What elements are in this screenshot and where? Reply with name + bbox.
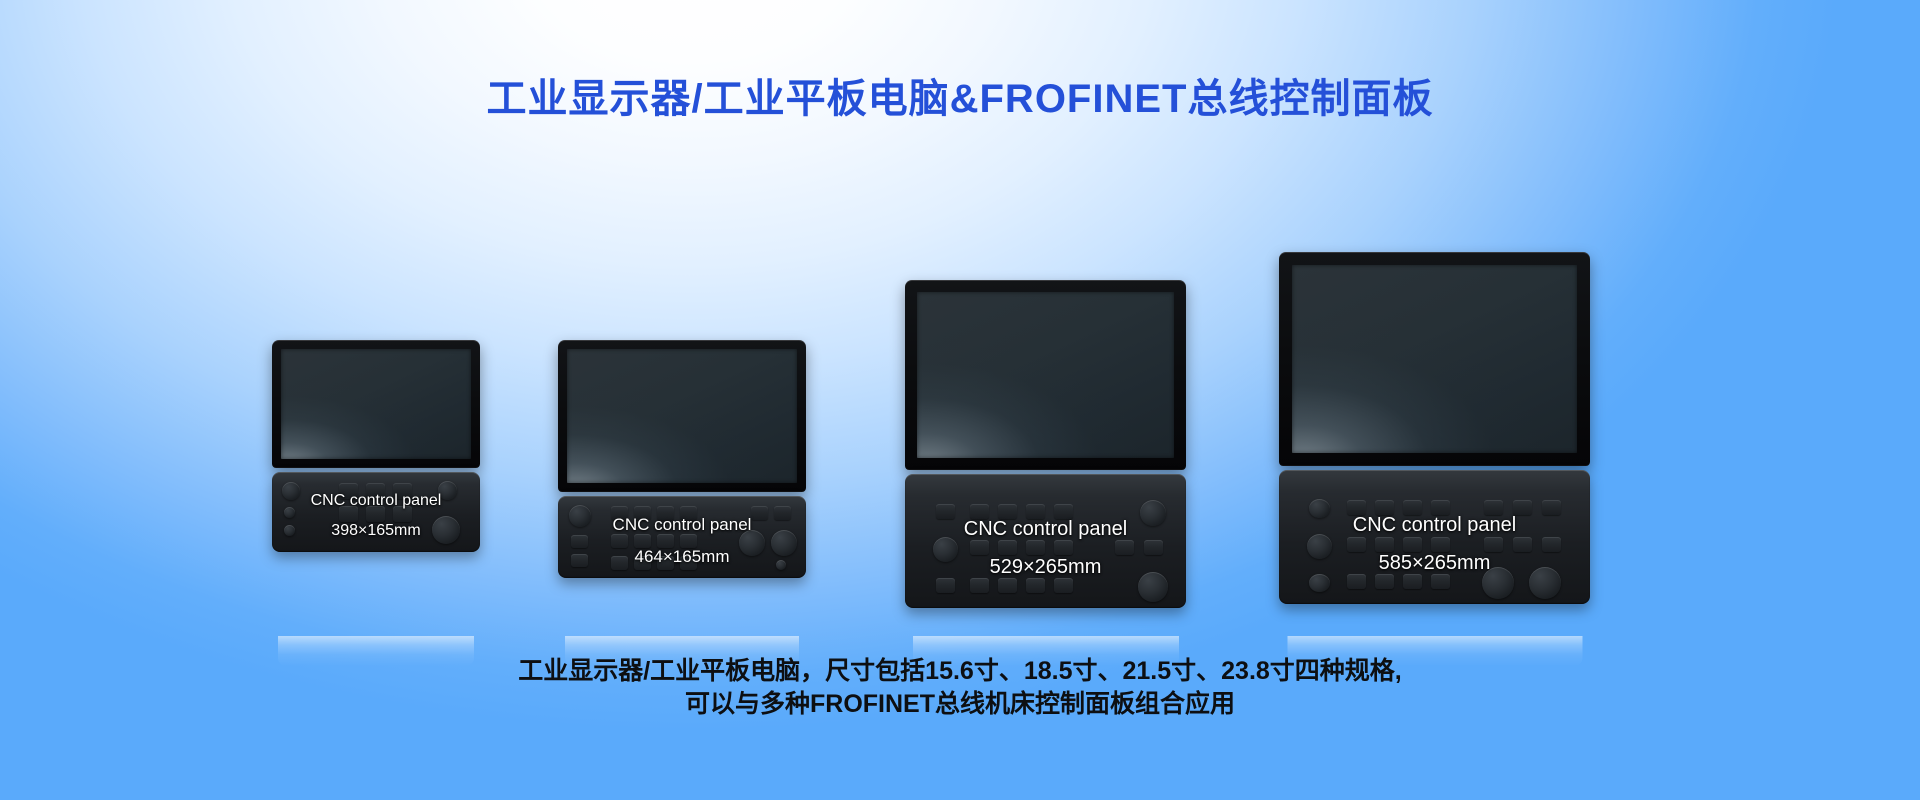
monitor-screen-4 <box>1292 265 1577 453</box>
panel-key[interactable] <box>393 506 412 522</box>
monitor-4 <box>1279 252 1590 466</box>
panel-knob[interactable] <box>1140 500 1166 526</box>
panel-key[interactable] <box>1542 537 1561 552</box>
device-lineup: CNC control panel 398×165mm <box>0 0 1920 640</box>
panel-key[interactable] <box>1431 537 1450 552</box>
product-banner: 工业显示器/工业平板电脑&FROFINET总线控制面板 CN <box>0 0 1920 800</box>
control-panel-3[interactable]: CNC control panel 529×265mm <box>905 474 1186 608</box>
panel-knob[interactable] <box>933 537 958 562</box>
panel-key[interactable] <box>1431 574 1450 589</box>
panel-key[interactable] <box>936 504 955 519</box>
panel-knob[interactable] <box>1482 567 1514 599</box>
panel-key[interactable] <box>1054 578 1073 593</box>
panel-key[interactable] <box>680 506 697 520</box>
panel-key[interactable] <box>611 556 628 570</box>
monitor-screen-1 <box>281 349 471 459</box>
panel-key[interactable] <box>1484 537 1503 552</box>
panel-key[interactable] <box>571 535 588 548</box>
panel-key[interactable] <box>936 578 955 593</box>
panel-key[interactable] <box>611 506 628 520</box>
panel-key[interactable] <box>1026 540 1045 555</box>
caption-line-2: 可以与多种FROFINET总线机床控制面板组合应用 <box>0 688 1920 721</box>
panel-key[interactable] <box>1431 500 1450 515</box>
panel-knob[interactable] <box>438 481 457 500</box>
panel-key[interactable] <box>1054 504 1073 519</box>
panel-key[interactable] <box>634 534 651 548</box>
monitor-3 <box>905 280 1186 470</box>
panel-key[interactable] <box>1347 537 1366 552</box>
monitor-1 <box>272 340 480 468</box>
panel-knob[interactable] <box>739 530 765 556</box>
panel-key[interactable] <box>680 534 697 548</box>
panel-key[interactable] <box>1375 500 1394 515</box>
panel-key[interactable] <box>751 506 768 520</box>
monitor-screen-2 <box>567 349 797 483</box>
panel-key[interactable] <box>1115 540 1134 555</box>
device-card-3[interactable]: CNC control panel 529×265mm <box>905 280 1186 640</box>
device-card-1[interactable]: CNC control panel 398×165mm <box>272 340 480 640</box>
panel-key[interactable] <box>1054 540 1073 555</box>
panel-knob[interactable] <box>1309 574 1330 592</box>
panel-key[interactable] <box>1513 500 1532 515</box>
control-panel-2[interactable]: CNC control panel 464×165mm <box>558 496 806 578</box>
panel-key[interactable] <box>1026 578 1045 593</box>
panel-knob[interactable] <box>1529 567 1561 599</box>
panel-key[interactable] <box>657 534 674 548</box>
panel-key[interactable] <box>1026 504 1045 519</box>
caption-line-1: 工业显示器/工业平板电脑，尺寸包括15.6寸、18.5寸、21.5寸、23.8寸… <box>0 655 1920 688</box>
panel-key[interactable] <box>1347 500 1366 515</box>
device-card-2[interactable]: CNC control panel 464×165mm <box>558 340 806 640</box>
panel-knob[interactable] <box>284 525 295 536</box>
panel-key[interactable] <box>634 506 651 520</box>
panel-key[interactable] <box>1375 537 1394 552</box>
device-card-4[interactable]: CNC control panel 585×265mm <box>1279 252 1590 640</box>
panel-key[interactable] <box>339 506 358 522</box>
panel-knob[interactable] <box>1307 534 1332 559</box>
monitor-2 <box>558 340 806 492</box>
panel-key[interactable] <box>611 534 628 548</box>
panel-knob[interactable] <box>432 516 460 544</box>
panel-knob[interactable] <box>771 530 797 556</box>
banner-caption: 工业显示器/工业平板电脑，尺寸包括15.6寸、18.5寸、21.5寸、23.8寸… <box>0 655 1920 721</box>
panel-key[interactable] <box>1403 500 1422 515</box>
panel-key[interactable] <box>998 578 1017 593</box>
panel-knob[interactable] <box>569 505 591 527</box>
control-panel-4[interactable]: CNC control panel 585×265mm <box>1279 470 1590 604</box>
panel-key[interactable] <box>571 554 588 567</box>
panel-knob[interactable] <box>1309 499 1330 518</box>
panel-key[interactable] <box>998 540 1017 555</box>
panel-key[interactable] <box>366 506 385 522</box>
panel-key[interactable] <box>970 504 989 519</box>
panel-key[interactable] <box>680 556 697 570</box>
panel-key[interactable] <box>1542 500 1561 515</box>
panel-key[interactable] <box>657 506 674 520</box>
panel-key[interactable] <box>1144 540 1163 555</box>
panel-knob[interactable] <box>1138 572 1168 602</box>
panel-key[interactable] <box>1375 574 1394 589</box>
panel-key[interactable] <box>1403 537 1422 552</box>
monitor-screen-3 <box>917 292 1174 458</box>
panel-key[interactable] <box>774 506 791 520</box>
panel-key[interactable] <box>1403 574 1422 589</box>
panel-key[interactable] <box>1484 500 1503 515</box>
panel-knob[interactable] <box>284 507 295 518</box>
panel-key[interactable] <box>1347 574 1366 589</box>
panel-key[interactable] <box>393 483 412 499</box>
panel-knob[interactable] <box>776 560 786 570</box>
panel-key[interactable] <box>1513 537 1532 552</box>
panel-key[interactable] <box>634 556 651 570</box>
panel-knob[interactable] <box>282 482 300 500</box>
panel-key[interactable] <box>970 578 989 593</box>
panel-key[interactable] <box>970 540 989 555</box>
panel-key[interactable] <box>366 483 385 499</box>
panel-key[interactable] <box>998 504 1017 519</box>
panel-key[interactable] <box>339 483 358 499</box>
control-panel-1[interactable]: CNC control panel 398×165mm <box>272 472 480 552</box>
panel-key[interactable] <box>657 556 674 570</box>
